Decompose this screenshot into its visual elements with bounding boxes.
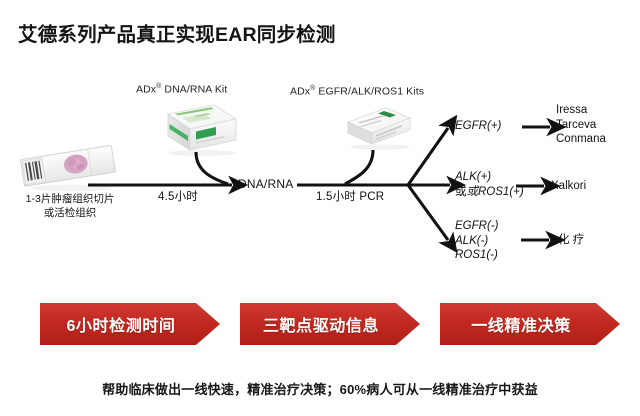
result-egfr-positive-line1: EGFR(+) <box>455 120 501 132</box>
result-alk-negative: ALK(-) <box>455 235 488 247</box>
kit1-brand: ADx <box>136 84 156 96</box>
banner-detection-time-label: 6小时检测时间 <box>66 312 175 336</box>
drug-tarceva: Tarceva <box>556 119 596 131</box>
egfr-alk-ros1-kit-box-icon <box>338 102 416 152</box>
result-triple-negative: EGFR(-) ALK(-) ROS1(-) <box>455 219 498 263</box>
sample-caption: 1-3片肿瘤组织切片 或活检组织 <box>0 192 145 220</box>
kit2-caption: ADx® EGFR/ALK/ROS1 Kits <box>290 85 424 98</box>
drug-xalkori: Xalkori <box>551 180 586 192</box>
tissue-slide-icon <box>14 140 126 192</box>
step-extraction-duration: 4.5小时 <box>158 188 198 204</box>
result-ros1-positive-line2: 或或ROS1(+) <box>455 186 524 198</box>
page-title: 艾德系列产品真正实现EAR同步检测 <box>18 18 336 47</box>
kit2-brand: ADx <box>290 86 310 98</box>
diagram-canvas: 艾德系列产品真正实现EAR同步检测 <box>0 0 640 416</box>
result-alk-ros1-positive: ALK(+) 或或ROS1(+) <box>455 170 524 199</box>
bottom-caption: 帮助临床做出一线快速，精准治疗决策；60%病人可从一线精准治疗中获益 <box>0 379 640 398</box>
kit2-name: EGFR/ALK/ROS1 Kits <box>315 86 424 98</box>
drug-conmana: Conmana <box>556 133 606 145</box>
arrow-kit2-feed <box>345 150 373 184</box>
treatment-chemotherapy: 化 疗 <box>558 234 584 246</box>
kit1-caption: ADx® DNA/RNA Kit <box>136 83 227 96</box>
result-egfr-negative: EGFR(-) <box>455 220 498 232</box>
banner-detection-time[interactable]: 6小时检测时间 <box>40 303 220 345</box>
banner-driver-info-label: 三靶点驱动信息 <box>263 312 379 336</box>
step-pcr-duration: 1.5小时 PCR <box>316 188 384 204</box>
result-egfr-positive: EGFR(+) <box>455 119 501 134</box>
intermediate-dna-rna-label: DNA/RNA <box>238 177 293 191</box>
result-alk-positive-line1: ALK(+) <box>455 171 491 183</box>
drug-iressa: Iressa <box>556 104 587 116</box>
drugs-egfr-positive: Iressa Tarceva Conmana <box>556 103 606 147</box>
result-ros1-positive-text: 或ROS1(+) <box>467 186 524 198</box>
dna-rna-kit-box-icon <box>152 100 240 158</box>
drugs-alk-ros1-positive: Xalkori <box>551 179 586 194</box>
kit1-name: DNA/RNA Kit <box>161 84 227 96</box>
result-ros1-negative: ROS1(-) <box>455 249 498 261</box>
drugs-triple-negative: 化 疗 <box>558 233 584 248</box>
banner-first-line-decision[interactable]: 一线精准决策 <box>440 303 620 345</box>
banner-first-line-decision-label: 一线精准决策 <box>471 312 571 336</box>
branch-arrow-triple-negative <box>408 185 448 240</box>
sample-caption-line1: 1-3片肿瘤组织切片 <box>26 193 115 205</box>
banner-driver-info[interactable]: 三靶点驱动信息 <box>240 303 420 345</box>
sample-caption-line2: 或活检组织 <box>44 207 97 219</box>
